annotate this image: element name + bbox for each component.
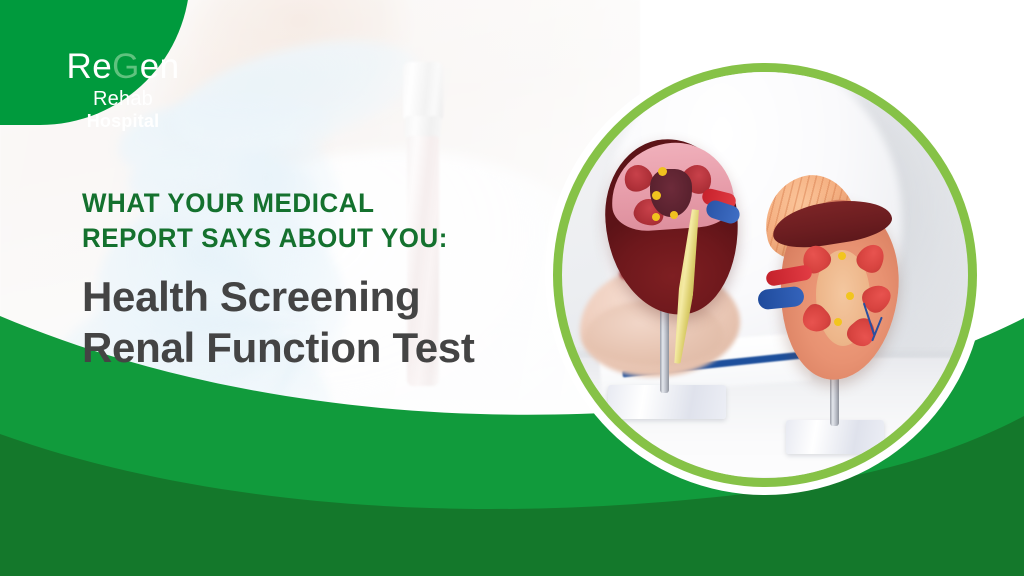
logo-wordmark: ReGen [67,49,180,84]
kidney-right-calyx-2 [846,292,854,300]
page-title: Health Screening Renal Function Test [82,271,552,373]
eyebrow-line-1: WHAT YOUR MEDICAL [82,188,375,218]
kidney-right-calyx-1 [838,252,846,260]
title-line-2: Renal Function Test [82,322,552,373]
kidney-model-right [772,184,922,464]
logo-wordmark-g: G [112,47,140,86]
logo-wordmark-re: Re [67,47,113,86]
kidney-model-left [606,117,756,417]
logo-subtitle-hospital: Hospital [87,112,160,131]
kidney-left-calyx-2 [652,191,661,200]
kidney-left-calyx-1 [658,167,667,176]
headline-block: WHAT YOUR MEDICAL REPORT SAYS ABOUT YOU:… [82,186,552,374]
circular-photo-frame [545,55,985,495]
kidney-left-calyx-4 [670,211,678,219]
title-line-1: Health Screening [82,271,552,322]
kidney-right-calyx-3 [834,318,842,326]
logo-wordmark-en: en [140,47,180,86]
kidney-left-calyx-3 [652,213,660,221]
kidney-left-rod [660,307,669,393]
logo[interactable]: ReGen Rehab Hospital [28,30,218,155]
banner: ReGen Rehab Hospital WHAT YOUR MEDICAL R… [0,0,1024,576]
eyebrow-text: WHAT YOUR MEDICAL REPORT SAYS ABOUT YOU: [82,186,533,255]
kidney-models-photo [562,72,968,478]
logo-subtitle-rehab: Rehab [93,89,153,110]
eyebrow-line-2: REPORT SAYS ABOUT YOU: [82,223,448,253]
